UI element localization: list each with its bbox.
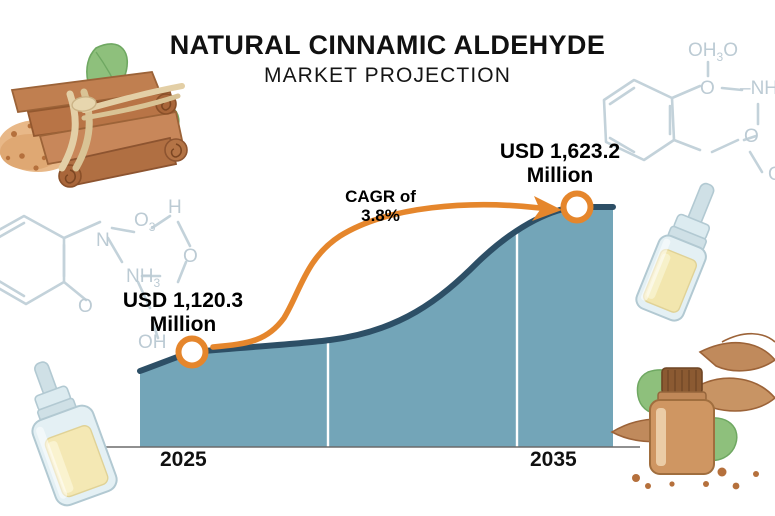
end-value-label: USD 1,623.2 Million <box>455 140 665 187</box>
cagr-line2: 3.8% <box>318 206 443 225</box>
cagr-label: CAGR of 3.8% <box>318 187 443 225</box>
end-value-line2: Million <box>455 164 665 188</box>
axis-label-year-start: 2025 <box>160 448 207 472</box>
infographic-canvas: N O3 H O NH3 O OH OH3O O –NH3 O O <box>0 0 775 516</box>
start-value-label: USD 1,120.3 Million <box>78 289 288 336</box>
axis-label-year-end: 2035 <box>530 448 577 472</box>
cagr-arrow <box>0 0 775 516</box>
end-value-line1: USD 1,623.2 <box>455 140 665 164</box>
cagr-line1: CAGR of <box>318 187 443 206</box>
start-value-line2: Million <box>78 313 288 337</box>
start-value-line1: USD 1,120.3 <box>78 289 288 313</box>
